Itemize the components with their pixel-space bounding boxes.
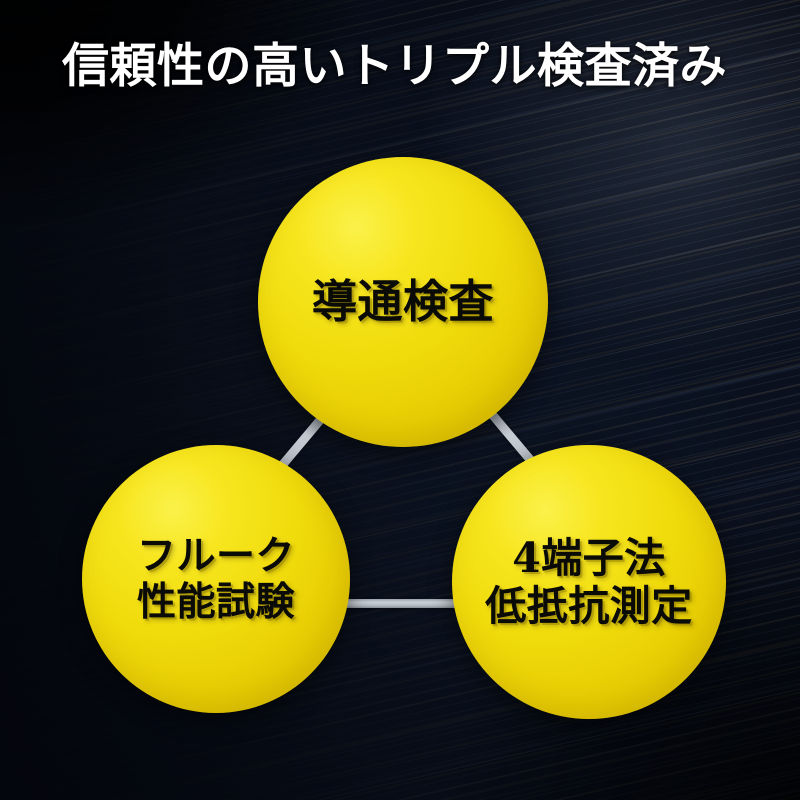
node-fluke-performance-test: フルーク 性能試験 — [82, 445, 350, 713]
node-continuity-test: 導通検査 — [258, 157, 548, 447]
promo-banner: 導通検査 フルーク 性能試験 4端子法 低抵抗測定 信頼性の高いトリプル検査済み — [0, 0, 800, 800]
node-label-fluke-performance-test: フルーク 性能試験 — [129, 533, 303, 625]
page-title: 信頼性の高いトリプル検査済み — [62, 40, 762, 94]
node-label-four-terminal-low-resistance: 4端子法 低抵抗測定 — [477, 534, 701, 631]
connector-left-to-right — [344, 599, 464, 608]
node-label-continuity-test: 導通検査 — [304, 275, 502, 328]
node-four-terminal-low-resistance: 4端子法 低抵抗測定 — [452, 445, 726, 719]
